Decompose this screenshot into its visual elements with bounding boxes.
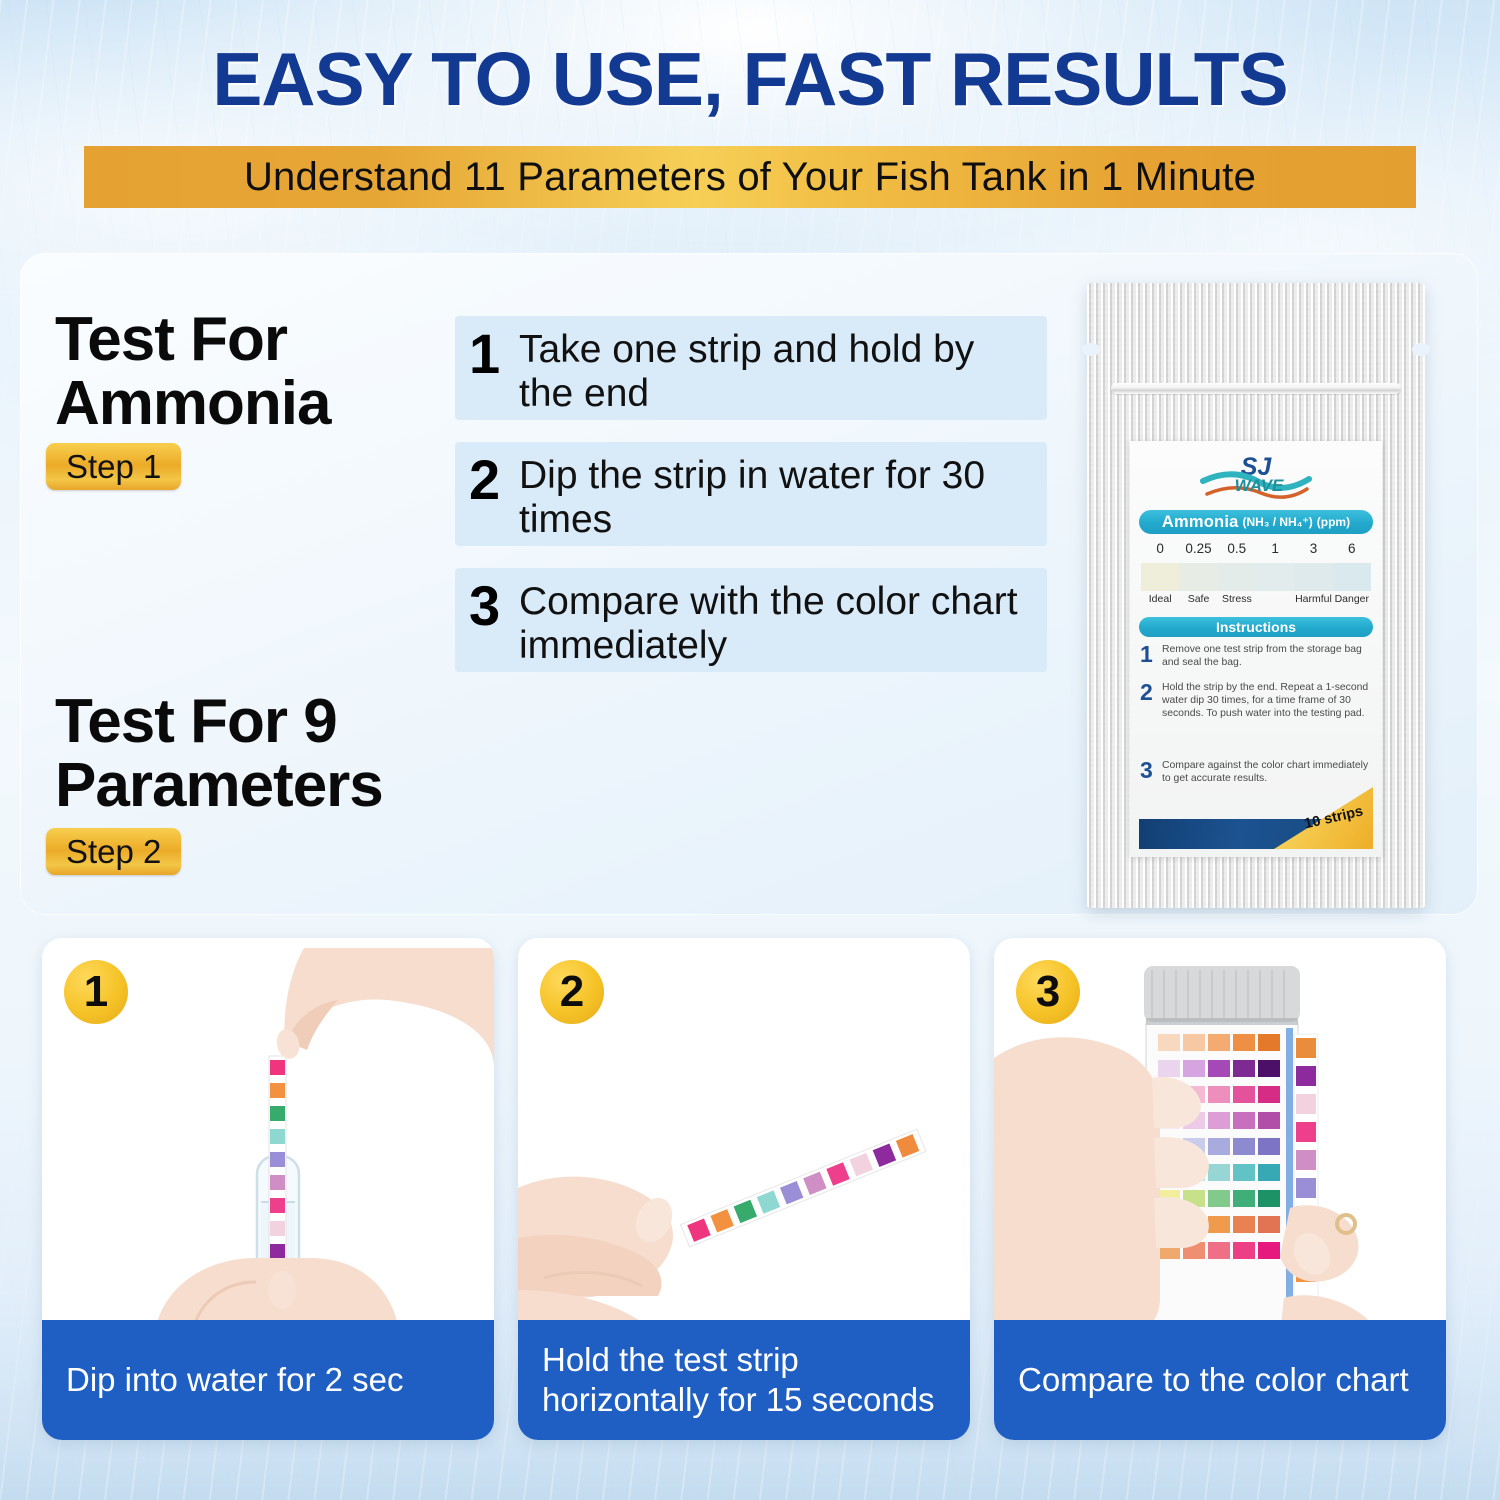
- ammonia-title-bar: Ammonia (NH₃ / NH₄⁺) (ppm): [1139, 510, 1373, 534]
- card-number-badge: 3: [1016, 960, 1080, 1024]
- color-swatch: [1218, 563, 1256, 591]
- color-swatch: [1333, 563, 1371, 591]
- instruction-row: 1 Take one strip and hold by the end: [455, 316, 1047, 420]
- photo-card: 2: [518, 938, 970, 1440]
- test-name: Ammonia: [1162, 513, 1239, 532]
- scale-value: 0.25: [1179, 541, 1217, 561]
- packet-step: 3 Compare against the color chart immedi…: [1140, 759, 1372, 785]
- color-chart-swatches: [1141, 563, 1371, 591]
- badge-step-1: Step 1: [46, 443, 181, 490]
- color-swatch: [1179, 563, 1217, 591]
- scale-label: Ideal: [1141, 593, 1179, 611]
- tear-notch-left-icon: [1082, 343, 1100, 356]
- scale-label: [1256, 593, 1294, 611]
- product-packet: SJ WAVE Ammonia (NH₃ / NH₄⁺) (ppm) 0 0.2…: [1087, 283, 1425, 908]
- packet-step-number: 2: [1140, 681, 1159, 720]
- instruction-row: 2 Dip the strip in water for 30 times: [455, 442, 1047, 546]
- svg-text:WAVE: WAVE: [1235, 476, 1284, 495]
- color-swatch: [1294, 563, 1332, 591]
- card-number-badge: 1: [64, 960, 128, 1024]
- packet-step-text: Hold the strip by the end. Repeat a 1-se…: [1162, 681, 1372, 720]
- packet-step-number: 1: [1140, 643, 1159, 669]
- scale-label: Danger: [1333, 593, 1371, 611]
- instruction-text: Take one strip and hold by the end: [519, 328, 1033, 415]
- packet-instructions-heading: Instructions: [1139, 617, 1373, 637]
- infographic-page: EASY TO USE, FAST RESULTS Understand 11 …: [0, 0, 1500, 1500]
- card-caption: Compare to the color chart: [1018, 1360, 1409, 1400]
- scale-value: 0: [1141, 541, 1179, 561]
- scale-value: 6: [1333, 541, 1371, 561]
- card-caption-bar: Hold the test strip horizontally for 15 …: [518, 1320, 970, 1440]
- card-number-badge: 2: [540, 960, 604, 1024]
- color-swatch: [1256, 563, 1294, 591]
- sj-wave-logo-icon: SJ WAVE: [1197, 449, 1315, 505]
- instruction-number: 2: [469, 454, 513, 506]
- packet-step-number: 3: [1140, 759, 1159, 785]
- packet-step-text: Compare against the color chart immediat…: [1162, 759, 1372, 785]
- test-formula: (NH₃ / NH₄⁺): [1242, 515, 1312, 529]
- packet-label: SJ WAVE Ammonia (NH₃ / NH₄⁺) (ppm) 0 0.2…: [1130, 441, 1382, 857]
- subtitle-banner: Understand 11 Parameters of Your Fish Ta…: [84, 146, 1416, 208]
- instruction-row: 3 Compare with the color chart immediate…: [455, 568, 1047, 672]
- instruction-text: Dip the strip in water for 30 times: [519, 454, 1033, 541]
- page-title: EASY TO USE, FAST RESULTS: [0, 36, 1500, 122]
- packet-step: 1 Remove one test strip from the storage…: [1140, 643, 1372, 669]
- color-swatch: [1141, 563, 1179, 591]
- instruction-number: 1: [469, 328, 513, 380]
- card-caption-bar: Compare to the color chart: [994, 1320, 1446, 1440]
- test-unit: (ppm): [1317, 515, 1350, 529]
- heading-test-for-9-parameters: Test For 9 Parameters: [55, 690, 485, 819]
- packet-gold-corner-wrap: 10 strips: [1139, 787, 1373, 849]
- photo-card: 1: [42, 938, 494, 1440]
- photo-card: 3: [994, 938, 1446, 1440]
- page-subtitle: Understand 11 Parameters of Your Fish Ta…: [244, 155, 1256, 200]
- scale-label: Stress: [1218, 593, 1256, 611]
- scale-label: Safe: [1179, 593, 1217, 611]
- zipper-seal: [1111, 383, 1401, 394]
- card-caption: Dip into water for 2 sec: [66, 1360, 403, 1400]
- instruction-text: Compare with the color chart immediately: [519, 580, 1033, 667]
- packet-step: 2 Hold the strip by the end. Repeat a 1-…: [1140, 681, 1372, 720]
- scale-label: Harmful: [1294, 593, 1332, 611]
- card-caption: Hold the test strip horizontally for 15 …: [542, 1340, 946, 1419]
- scale-value: 0.5: [1218, 541, 1256, 561]
- card-caption-bar: Dip into water for 2 sec: [42, 1320, 494, 1440]
- tear-notch-right-icon: [1412, 343, 1430, 356]
- scale-labels-row: Ideal Safe Stress Harmful Danger: [1141, 593, 1371, 611]
- scale-value: 1: [1256, 541, 1294, 561]
- scale-value: 3: [1294, 541, 1332, 561]
- heading-test-for-ammonia: Test For Ammonia: [55, 308, 475, 437]
- instruction-number: 3: [469, 580, 513, 632]
- badge-step-2: Step 2: [46, 828, 181, 875]
- scale-values-row: 0 0.25 0.5 1 3 6: [1141, 541, 1371, 561]
- packet-step-text: Remove one test strip from the storage b…: [1162, 643, 1372, 669]
